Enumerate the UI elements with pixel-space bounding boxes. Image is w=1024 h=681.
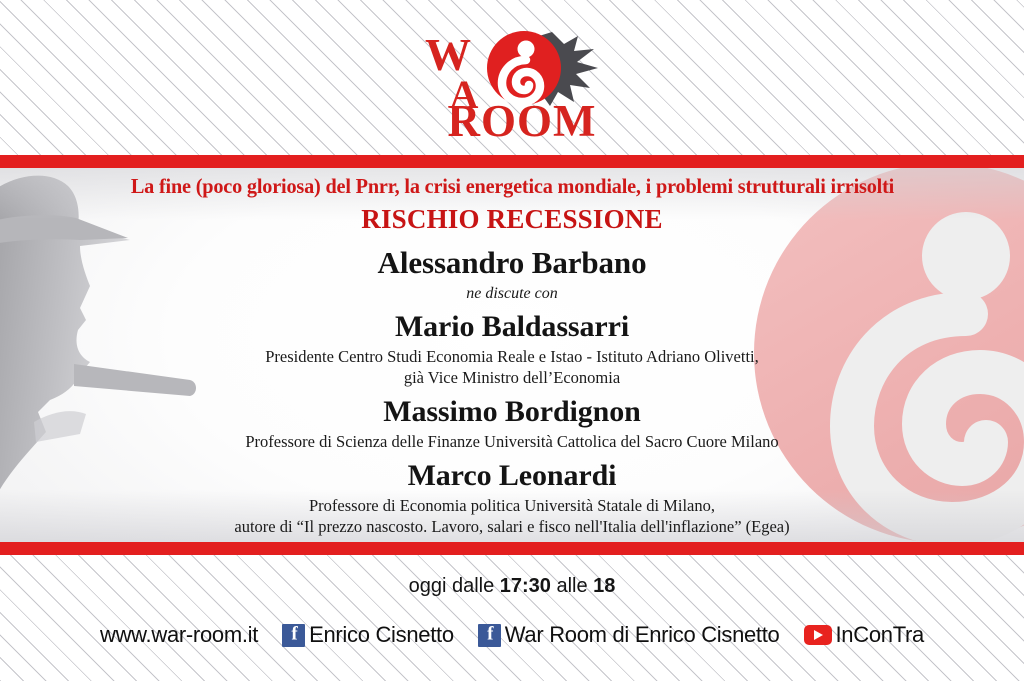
event-schedule: oggi dalle 17:30 alle 18 bbox=[0, 575, 1024, 598]
youtube-label: InConTra bbox=[836, 622, 925, 648]
guest-role-3: Professore di Economia politica Universi… bbox=[234, 495, 789, 537]
facebook-link-1[interactable]: Enrico Cisnetto bbox=[282, 622, 454, 648]
guest-name-2: Massimo Bordignon bbox=[383, 395, 641, 429]
guest-role-line: Presidente Centro Studi Economia Reale e… bbox=[265, 346, 759, 367]
guest-role-1: Presidente Centro Studi Economia Reale e… bbox=[265, 346, 759, 388]
schedule-prefix: oggi dalle bbox=[409, 575, 500, 597]
facebook-label-2: War Room di Enrico Cisnetto bbox=[505, 622, 780, 648]
main-panel: La fine (poco gloriosa) del Pnrr, la cri… bbox=[0, 168, 1024, 542]
guest-role-line: già Vice Ministro dell’Economia bbox=[265, 367, 759, 388]
footer: oggi dalle 17:30 alle 18 www.war-room.it… bbox=[0, 555, 1024, 681]
social-links-row: www.war-room.it Enrico Cisnetto War Room… bbox=[0, 615, 1024, 655]
schedule-time: 17:30 bbox=[500, 575, 551, 597]
schedule-end-time: 18 bbox=[593, 575, 615, 597]
connector-text: ne discute con bbox=[466, 285, 558, 303]
event-subtitle: RISCHIO RECESSIONE bbox=[361, 204, 662, 235]
poster-canvas: W A ROOM bbox=[0, 0, 1024, 681]
facebook-link-2[interactable]: War Room di Enrico Cisnetto bbox=[478, 622, 780, 648]
facebook-label-1: Enrico Cisnetto bbox=[309, 622, 454, 648]
guest-role-line: autore di “Il prezzo nascosto. Lavoro, s… bbox=[234, 516, 789, 537]
website-link[interactable]: www.war-room.it bbox=[100, 622, 258, 648]
guest-role-line: Professore di Economia politica Universi… bbox=[234, 495, 789, 516]
svg-text:ROOM: ROOM bbox=[448, 96, 597, 138]
facebook-icon bbox=[282, 624, 305, 647]
event-kicker: La fine (poco gloriosa) del Pnrr, la cri… bbox=[130, 174, 893, 199]
divider-bottom-red bbox=[0, 542, 1024, 555]
divider-top-red bbox=[0, 155, 1024, 168]
guest-role-2: Professore di Scienza delle Finanze Univ… bbox=[245, 431, 778, 452]
guest-name-1: Mario Baldassarri bbox=[395, 310, 629, 344]
war-room-logo[interactable]: W A ROOM bbox=[402, 18, 622, 138]
guest-role-line: Professore di Scienza delle Finanze Univ… bbox=[245, 431, 778, 452]
war-room-logo-icon: W A ROOM bbox=[402, 18, 622, 138]
event-details: La fine (poco gloriosa) del Pnrr, la cri… bbox=[0, 168, 1024, 542]
youtube-icon bbox=[804, 625, 832, 645]
youtube-link[interactable]: InConTra bbox=[804, 622, 925, 648]
host-name: Alessandro Barbano bbox=[378, 245, 647, 281]
header-band: W A ROOM bbox=[0, 0, 1024, 155]
schedule-mid: alle bbox=[551, 575, 593, 597]
facebook-icon bbox=[478, 624, 501, 647]
guest-name-3: Marco Leonardi bbox=[408, 459, 617, 493]
